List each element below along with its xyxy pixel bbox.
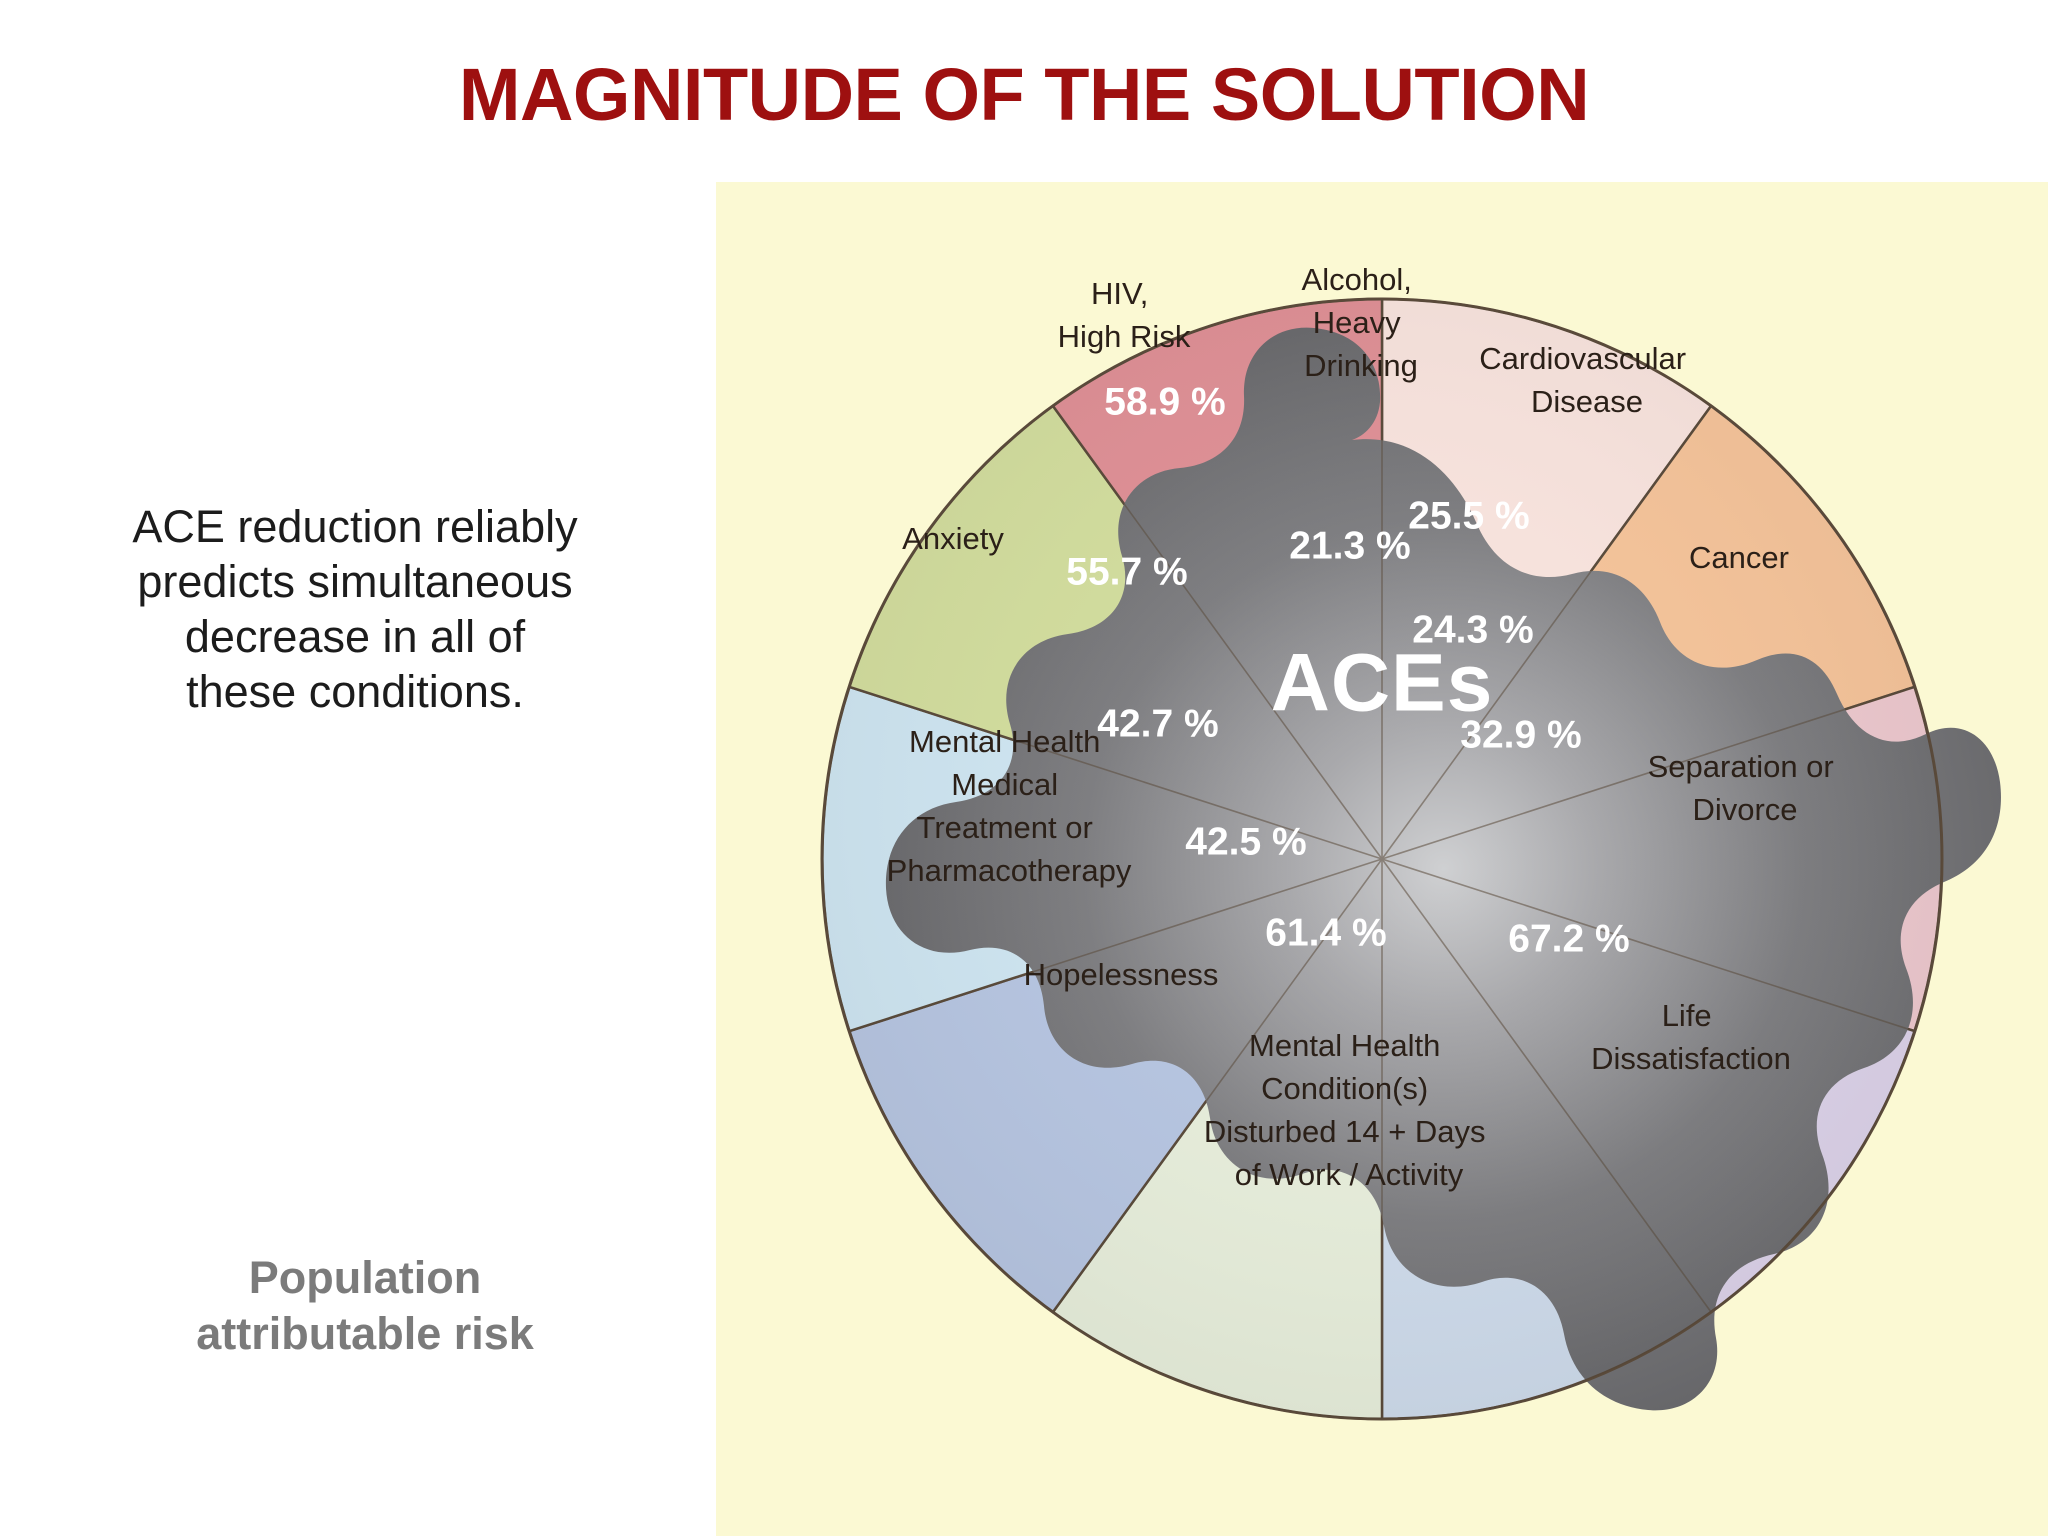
value-life-dissatisfaction: 67.2 % bbox=[1508, 917, 1629, 960]
value-alcohol-heavy-drinking: 21.3 % bbox=[1289, 524, 1410, 567]
label-cancer: Cancer bbox=[1689, 540, 1789, 575]
population-attributable-risk-caption: Population attributable risk bbox=[140, 1250, 590, 1362]
aces-center-label: ACEs bbox=[1271, 638, 1494, 729]
aces-wheel-svg: Alcohol, Heavy Drinking Cardiovascular D… bbox=[716, 182, 2048, 1536]
label-alcohol-heavy-drinking: Alcohol, Heavy Drinking bbox=[1302, 262, 1421, 383]
value-cardiovascular-disease: 25.5 % bbox=[1408, 494, 1529, 537]
page-title: MAGNITUDE OF THE SOLUTION bbox=[0, 52, 2048, 137]
slide-root: MAGNITUDE OF THE SOLUTION ACE reduction … bbox=[0, 0, 2048, 1536]
value-mental-health-medical-treatment: 42.7 % bbox=[1097, 702, 1218, 745]
label-hopelessness: Hopelessness bbox=[1024, 957, 1219, 992]
value-mental-health-conditions: 61.4 % bbox=[1265, 911, 1386, 954]
value-anxiety: 55.7 % bbox=[1066, 550, 1187, 593]
value-hiv-high-risk: 58.9 % bbox=[1104, 380, 1225, 423]
label-hiv-high-risk: HIV, High Risk bbox=[1058, 276, 1191, 354]
value-hopelessness: 42.5 % bbox=[1185, 820, 1306, 863]
label-anxiety: Anxiety bbox=[902, 521, 1004, 556]
lead-paragraph: ACE reduction reliably predicts simultan… bbox=[130, 500, 580, 720]
aces-wheel-figure: Alcohol, Heavy Drinking Cardiovascular D… bbox=[716, 182, 2048, 1536]
